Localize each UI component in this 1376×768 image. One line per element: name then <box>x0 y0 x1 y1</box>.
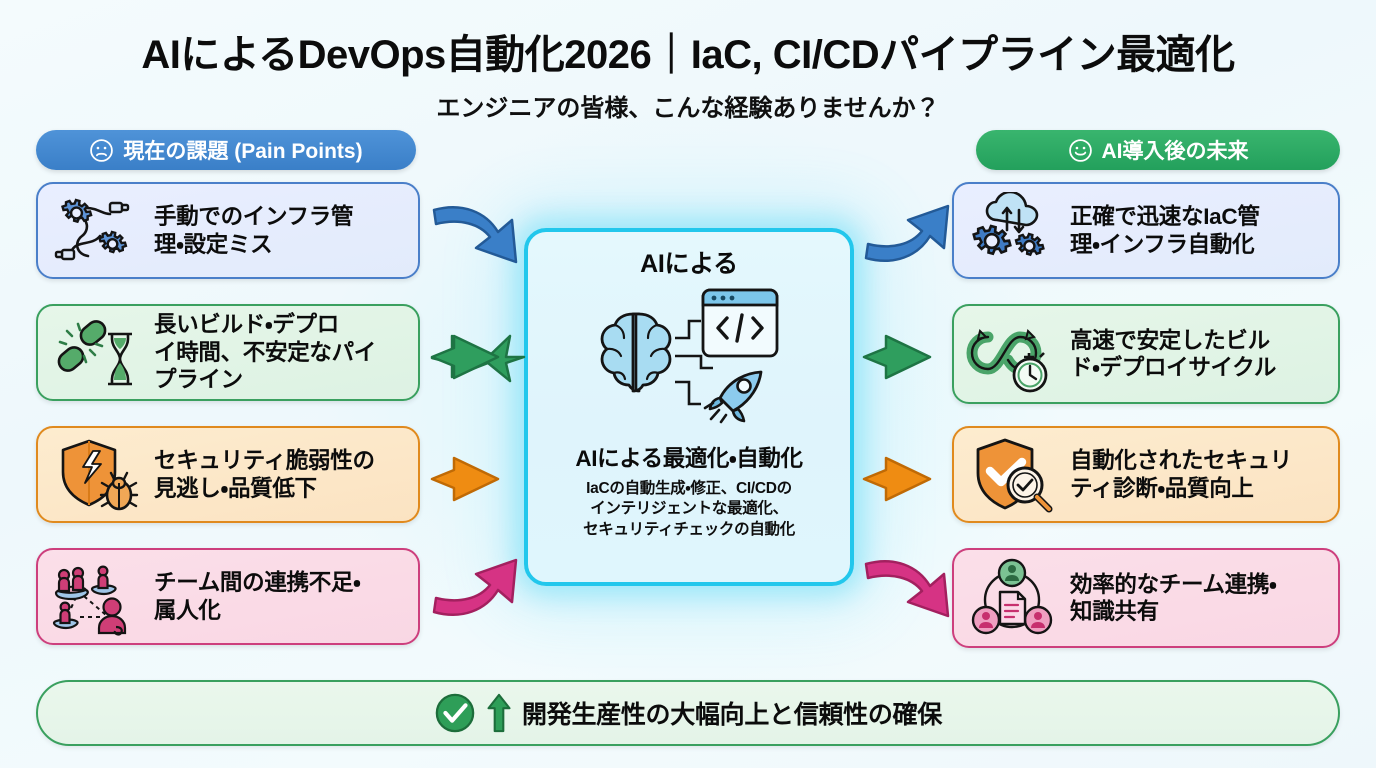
arrow-left-green <box>430 330 528 384</box>
page-title: AIによるDevOps自動化2026｜IaC, CI/CDパイプライン最適化 <box>0 22 1376 80</box>
pain-points-badge: 現在の課題 (Pain Points) <box>36 130 416 170</box>
check-circle-icon <box>434 692 476 734</box>
brain-code-rocket-icon <box>583 282 795 439</box>
future-card-2-label: 高速で安定したビルド・デプロイサイクル <box>1070 327 1276 382</box>
center-body: IaCの自動生成・修正、CI/CDのインテリジェントな最適化、セキュリティチェッ… <box>583 479 795 540</box>
future-card-4[interactable]: 効率的なチーム連携・知識共有 <box>952 548 1340 648</box>
smiling-face-icon <box>1068 138 1093 163</box>
pain-card-1-label: 手動でのインフラ管理・設定ミス <box>154 203 353 258</box>
team-collaboration-icon <box>964 556 1060 640</box>
infinity-stopwatch-icon <box>964 312 1060 396</box>
future-card-4-label: 効率的なチーム連携・知識共有 <box>1070 571 1276 626</box>
pain-card-2[interactable]: 長いビルド・デプロイ時間、不安定なパイプライン <box>36 304 420 401</box>
future-card-1-label: 正確で迅速なIaC管理・インフラ自動化 <box>1070 203 1260 258</box>
gears-cables-icon <box>48 189 144 273</box>
pain-card-4[interactable]: チーム間の連携不足・属人化 <box>36 548 420 645</box>
page-subtitle: エンジニアの皆様、こんな経験ありませんか？ <box>0 88 1376 123</box>
future-card-2[interactable]: 高速で安定したビルド・デプロイサイクル <box>952 304 1340 404</box>
pain-card-3-label: セキュリティ脆弱性の見逃し・品質低下 <box>154 447 375 502</box>
future-badge: AI導入後の未来 <box>976 130 1340 170</box>
future-card-3-label: 自動化されたセキュリティ診断・品質向上 <box>1070 447 1292 502</box>
infographic-root: AIによるDevOps自動化2026｜IaC, CI/CDパイプライン最適化 エ… <box>0 0 1376 768</box>
arrow-left-pink <box>430 552 534 624</box>
arrow-right-pink <box>862 552 966 624</box>
up-arrow-icon <box>486 692 512 734</box>
pain-card-4-label: チーム間の連携不足・属人化 <box>154 569 360 624</box>
arrow-right-green <box>862 330 960 384</box>
center-ai-panel: AIによる <box>524 228 854 586</box>
cracked-shield-bug-icon <box>48 433 144 517</box>
center-subheading: AIによる最適化・自動化 <box>575 441 802 473</box>
future-card-3[interactable]: 自動化されたセキュリティ診断・品質向上 <box>952 426 1340 523</box>
siloed-teams-icon <box>48 555 144 639</box>
arrow-right-orange <box>862 452 960 506</box>
cloud-gears-icon <box>964 189 1060 273</box>
shield-check-magnifier-icon <box>964 433 1060 517</box>
future-badge-label: AI導入後の未来 <box>1102 135 1249 165</box>
frowning-face-icon <box>89 138 114 163</box>
arrow-right-blue <box>862 198 966 270</box>
pain-points-badge-label: 現在の課題 (Pain Points) <box>123 135 362 165</box>
outcome-banner: 開発生産性の大幅向上と信頼性の確保 <box>36 680 1340 746</box>
arrow-left-orange <box>430 452 528 506</box>
broken-chain-hourglass-icon <box>48 311 144 395</box>
center-heading: AIによる <box>640 244 738 280</box>
outcome-banner-label: 開発生産性の大幅向上と信頼性の確保 <box>522 695 942 731</box>
pain-card-2-label: 長いビルド・デプロイ時間、不安定なパイプライン <box>154 311 376 393</box>
pain-card-1[interactable]: 手動でのインフラ管理・設定ミス <box>36 182 420 279</box>
future-card-1[interactable]: 正確で迅速なIaC管理・インフラ自動化 <box>952 182 1340 279</box>
arrow-left-blue <box>430 198 534 270</box>
pain-card-3[interactable]: セキュリティ脆弱性の見逃し・品質低下 <box>36 426 420 523</box>
